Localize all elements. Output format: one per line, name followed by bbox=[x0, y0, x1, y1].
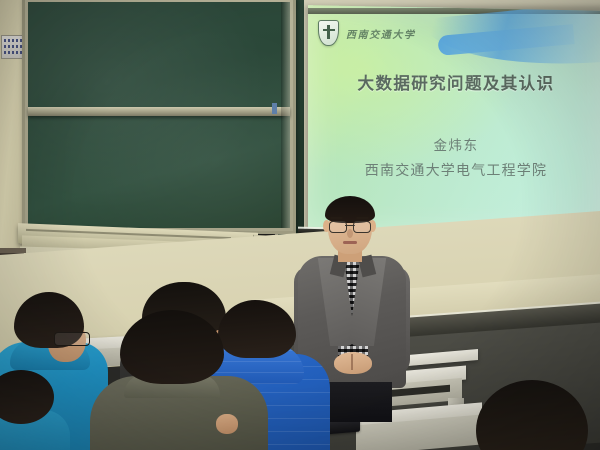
chalkboard-clip bbox=[272, 103, 277, 114]
glasses-icon bbox=[54, 332, 90, 346]
slide-author: 金炜东 bbox=[308, 134, 600, 154]
student-hair bbox=[120, 310, 224, 384]
student-foreground-partial bbox=[0, 370, 58, 450]
student-olive-jacket bbox=[104, 310, 254, 450]
presenter-hand-crease bbox=[351, 354, 353, 370]
chalkboard-panel-edge bbox=[281, 2, 290, 228]
student-hair bbox=[476, 380, 588, 450]
slide-affiliation: 西南交通大学电气工程学院 bbox=[308, 160, 600, 180]
presenter-nose bbox=[347, 229, 353, 238]
presenter-mouth bbox=[343, 241, 357, 244]
waste-bin-lid bbox=[0, 248, 26, 253]
student-back-right bbox=[476, 380, 592, 450]
university-wordmark: 西南交通大学 bbox=[346, 26, 416, 41]
chalkboard bbox=[22, 0, 296, 234]
student-hand bbox=[216, 414, 238, 434]
lecture-hall-photo: 西南交通大学 大数据研究问题及其认识 金炜东 西南交通大学电气工程学院 bbox=[0, 0, 600, 450]
slide-title: 大数据研究问题及其认识 bbox=[308, 70, 600, 94]
chalkboard-divider-rail bbox=[28, 107, 290, 116]
shield-crest-icon bbox=[318, 20, 339, 46]
presenter-hands bbox=[334, 352, 372, 374]
university-logo: 西南交通大学 bbox=[318, 20, 416, 46]
